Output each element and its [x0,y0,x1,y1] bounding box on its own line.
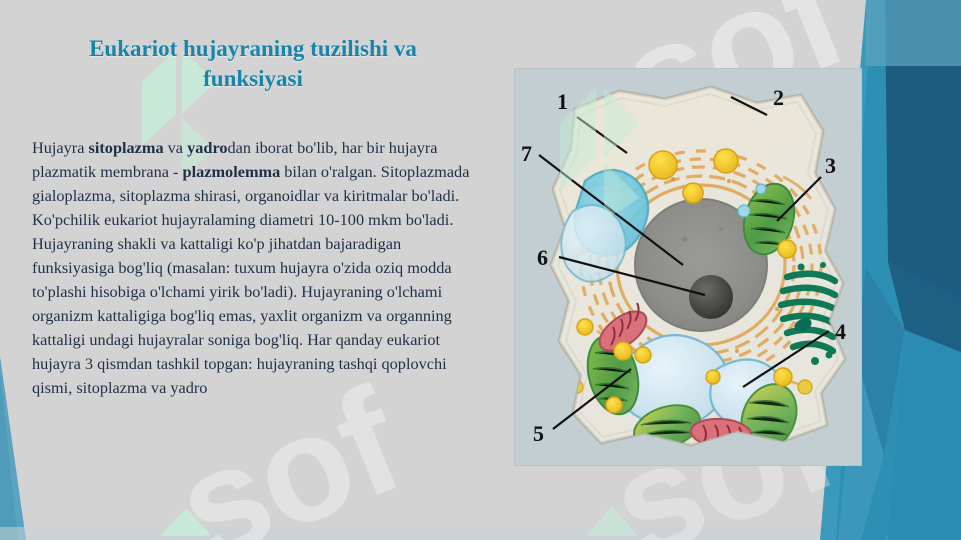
figure-label-2: 2 [773,85,784,110]
body-text-run: va [164,138,188,157]
figure-label-6: 6 [537,245,548,270]
watermark-k-mark-bottom [160,492,220,540]
figure-label-3: 3 [825,153,836,178]
cell-interior [535,79,855,459]
deco-left-wedge [0,356,26,540]
body-term-emphasis: plazmolemma [183,162,281,181]
body-term-emphasis: sitoplazma [89,138,164,157]
cell-diagram-figure: 1 2 3 4 5 6 7 [514,68,862,466]
page-title-line-1: Eukariot hujayraning tuzilishi va [89,36,417,61]
figure-label-4: 4 [835,319,846,344]
body-text-run: Hujayra [32,138,89,157]
body-paragraph: Hujayra sitoplazma va yadrodan iborat bo… [32,136,480,400]
page-title-line-2: funksiyasi [203,66,303,91]
nucleolus [689,275,733,319]
page-title: Eukariot hujayraning tuzilishi va funksi… [28,34,478,95]
body-text-run: bilan o'ralgan. Sitoplazmada gialoplazma… [32,162,469,397]
figure-label-1: 1 [557,89,568,114]
figure-label-5: 5 [533,421,544,446]
watermark-k-mark-bottom-right [586,484,646,540]
cell-diagram-image: 1 2 3 4 5 6 7 [515,69,861,465]
figure-label-7: 7 [521,141,532,166]
slide-canvas: sof sof sof Eukariot hujayraning tuzilis… [0,0,961,540]
body-term-emphasis: yadro [187,138,227,157]
